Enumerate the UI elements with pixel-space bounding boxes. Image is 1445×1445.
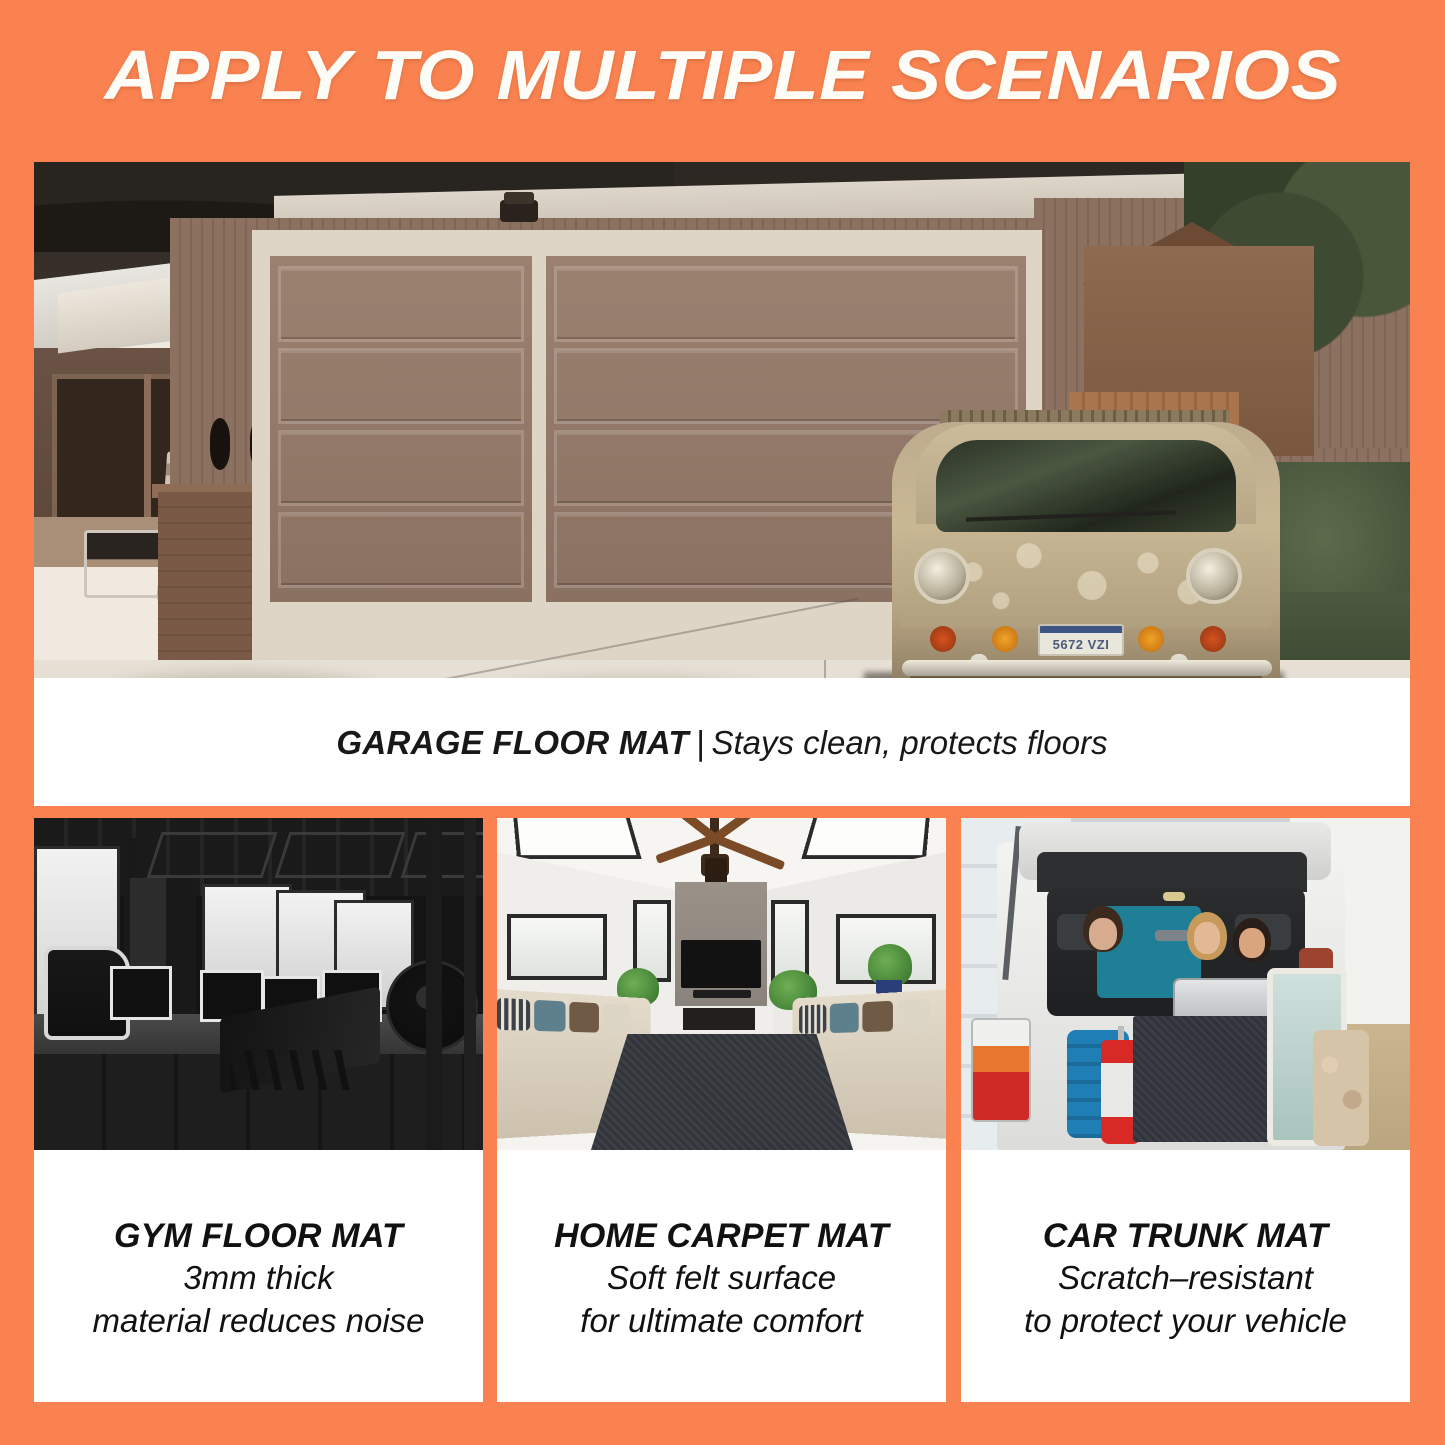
caption-title-garage: GARAGE FLOOR MAT [336,724,689,761]
turn-signal [1138,626,1164,652]
caption-title-trunk: CAR TRUNK MAT [1043,1215,1328,1258]
throw-pillow [497,998,530,1031]
caption-desc-garage: Stays clean, protects floors [711,724,1107,761]
fireplace [683,1008,755,1030]
squat-rack [426,818,442,1150]
throw-pillow [897,999,929,1031]
child-face [1089,918,1117,950]
throw-pillow [862,1001,893,1032]
marker-light [1200,626,1226,652]
throw-pillow [799,1004,826,1034]
soundbar [693,990,751,998]
turn-signal [992,626,1018,652]
skylight [513,818,642,859]
caption-line1-gym: 3mm thick [183,1257,333,1300]
caption-line1-trunk: Scratch–resistant [1058,1257,1313,1300]
rearview-mirror [1155,930,1189,941]
card-garage-floor-mat: 5672 VZI GARAGE FLOOR MAT|Stays clean, p… [34,162,1410,806]
caption-garage: GARAGE FLOOR MAT|Stays clean, protects f… [34,678,1410,806]
squat-rack [464,818,476,1150]
headlight-left [914,548,970,604]
caption-title-home: HOME CARPET MAT [554,1215,889,1258]
photo-garage-driveway: 5672 VZI [34,162,1410,678]
dome-light-icon [1163,892,1185,901]
throw-pillow [534,1000,565,1032]
window-mullion [144,374,151,524]
caption-gym: GYM FLOOR MAT 3mm thick material reduces… [34,1150,483,1402]
treadmill [110,966,172,1020]
marker-light [930,626,956,652]
caption-line2-trunk: to protect your vehicle [1024,1300,1347,1343]
television [681,940,761,988]
page-title: APPLY TO MULTIPLE SCENARIOS [104,35,1341,115]
infographic-page: APPLY TO MULTIPLE SCENARIOS [0,0,1445,1445]
living-room-window [507,914,607,980]
caption-home: HOME CARPET MAT Soft felt surface for ul… [497,1150,946,1402]
card-home-carpet-mat: HOME CARPET MAT Soft felt surface for ul… [497,818,946,1402]
tail-light [971,1018,1031,1122]
vintage-car: 5672 VZI [870,410,1300,678]
front-bumper [902,660,1272,676]
photo-car-trunk [961,818,1410,1150]
trunk-mat [1133,1016,1273,1142]
throw-pillow [569,1002,599,1033]
woman-face [1194,922,1220,954]
skylight [801,818,930,859]
caption-separator: | [689,724,712,761]
photo-gym-interior [34,818,483,1150]
throw-pillow [830,1003,859,1034]
house-number-digit [210,418,230,470]
license-plate: 5672 VZI [1038,624,1124,656]
caption-line2-gym: material reduces noise [93,1300,425,1343]
header-banner: APPLY TO MULTIPLE SCENARIOS [0,0,1445,150]
girl-face [1239,928,1265,958]
caption-line2-home: for ultimate comfort [580,1300,862,1343]
garage-door-left [270,256,532,602]
photo-living-room [497,818,946,1150]
card-car-trunk-mat: CAR TRUNK MAT Scratch–resistant to prote… [961,818,1410,1402]
throw-pillow [603,1003,631,1033]
folded-quilt [1313,1030,1369,1146]
headlight-right [1186,548,1242,604]
caption-trunk: CAR TRUNK MAT Scratch–resistant to prote… [961,1150,1410,1402]
caption-line1-home: Soft felt surface [607,1257,836,1300]
caption-title-gym: GYM FLOOR MAT [114,1215,403,1258]
card-gym-floor-mat: GYM FLOOR MAT 3mm thick material reduces… [34,818,483,1402]
carpet-mat [591,1034,853,1150]
security-light-icon [500,200,538,222]
